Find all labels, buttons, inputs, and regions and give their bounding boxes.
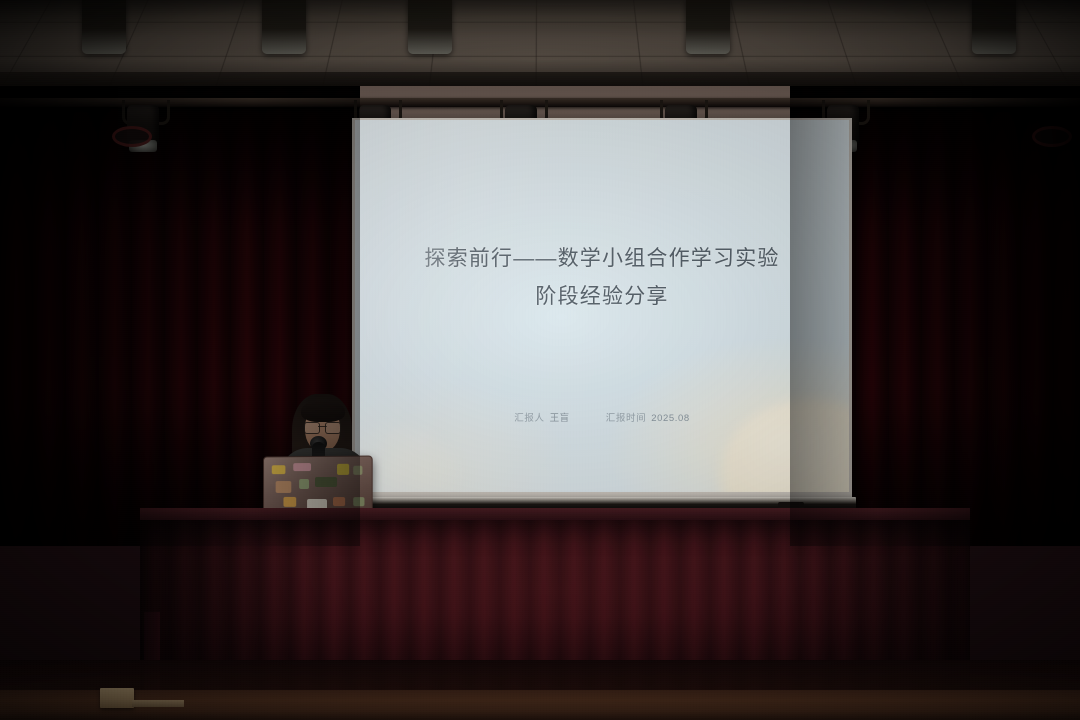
meta-value-presenter: 王盲 xyxy=(550,410,570,424)
presentation-slide: 探索前行——数学小组合作学习实验 阶段经验分享 汇报人 王盲 汇报时间 2025… xyxy=(355,120,849,492)
meta-label-presenter: 汇报人 xyxy=(514,410,544,424)
slide-title: 探索前行——数学小组合作学习实验 阶段经验分享 xyxy=(355,240,849,316)
slide-meta-row: 汇报人 王盲 汇报时间 2025.08 xyxy=(355,410,849,424)
slide-meta-date: 汇报时间 2025.08 xyxy=(606,410,690,424)
stage-curtain-left xyxy=(0,86,360,546)
wooden-block-prop xyxy=(100,688,134,708)
wooden-strip-prop xyxy=(132,700,184,707)
auditorium-scene: 探索前行——数学小组合作学习实验 阶段经验分享 汇报人 王盲 汇报时间 2025… xyxy=(0,0,1080,720)
meta-value-date: 2025.08 xyxy=(651,413,690,424)
meta-label-date: 汇报时间 xyxy=(606,410,646,424)
slide-meta-presenter: 汇报人 王盲 xyxy=(514,410,570,424)
ceiling xyxy=(0,0,1080,96)
stage-curtain-right xyxy=(790,86,1080,546)
projection-screen: 探索前行——数学小组合作学习实验 阶段经验分享 汇报人 王盲 汇报时间 2025… xyxy=(352,118,852,498)
